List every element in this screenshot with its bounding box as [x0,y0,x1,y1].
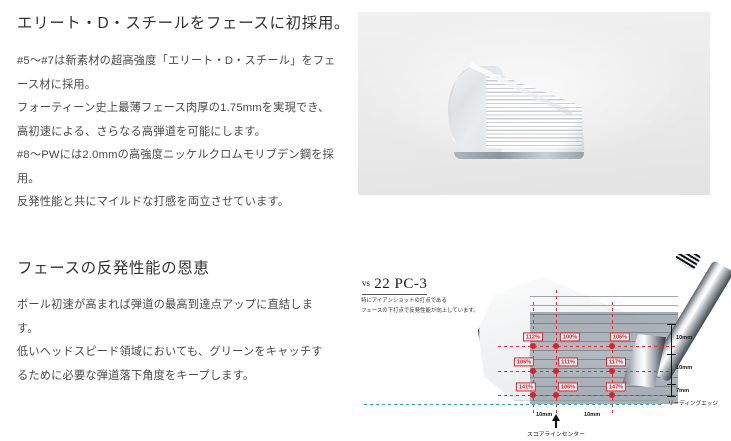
leading-edge-line [364,404,664,405]
measure-dot-r2c1 [530,368,536,374]
iron-face-photo [358,12,710,195]
measure-dot-r2c3 [609,368,615,374]
section-1-paragraph-1: #5〜#7は新素材の超高強度「エリート・D・スチール」をフェース材に採用。 [17,50,339,97]
club-head-graphic [450,60,587,158]
page-root: エリート・D・スチールをフェースに初採用。 #5〜#7は新素材の超高強度「エリー… [0,0,731,441]
pct-r2c2: 111% [558,357,578,366]
section-1-paragraph-4: 反発性能と共にマイルドな打感を両立させています。 [17,191,339,215]
vertical-dim-tick-4 [667,396,676,397]
vertical-dim-label-2: 10mm [676,365,692,371]
pct-r3c1: 141% [516,382,536,391]
horizontal-dim-label-1: 10mm [536,412,552,418]
diagram-caption-line-1: 特にアイアンショットの打点である [361,296,479,306]
pct-r3c3: 147% [606,382,626,391]
section-1-heading: エリート・D・スチールをフェースに初採用。 [17,0,352,34]
shaft-tube [648,260,731,382]
vertical-dim-tick-2 [667,354,676,355]
shaft-ferrule [674,254,701,271]
vertical-dim-tick-3 [667,384,676,385]
pct-r2c3: 117% [606,357,626,366]
pct-r1c2: 100% [560,332,580,341]
grid-hline-top [498,346,678,347]
section-2-body: ボール初速が高まれば弾道の最高到達点アップに直結します。 低いヘッドスピード領域… [17,279,333,388]
measure-dot-r1c1 [530,343,536,349]
measure-dot-r3c2 [553,392,559,398]
pct-r1c1: 112% [523,332,543,341]
measure-dot-r2c2 [553,368,559,374]
measure-dot-r1c2 [553,343,559,349]
vertical-dim-label-1: 10mm [676,335,692,341]
measure-dot-r3c1 [530,392,536,398]
grid-vline-center [556,290,557,426]
section-2-paragraph-2: 低いヘッドスピード領域においても、グリーンをキャッチするために必要な弾道落下角度… [17,341,333,388]
measure-dot-r3c3 [609,392,615,398]
pct-r3c2: 106% [558,382,578,391]
vs-model-label: vs 22 PC-3 [362,276,427,295]
pct-r1c3: 106% [610,332,630,341]
diagram-caption-line-2: フェースの下打点で反発性能が向上しています。 [361,306,479,316]
section-2-paragraph-1: ボール初速が高まれば弾道の最高到達点アップに直結します。 [17,294,333,341]
scoreline-center-label: スコアラインセンター [527,429,585,437]
restitution-diagram: vs 22 PC-3 特にアイアンショットの打点である フェースの下打点で反発性… [358,254,731,437]
hosel-neck [622,334,666,388]
grid-hline-mid [498,371,678,372]
vertical-dim-label-3: 7mm [676,388,689,394]
leading-edge-label: リーディングエッジ [668,399,718,407]
section-2-text-column: フェースの反発性能の恩恵 ボール初速が高まれば弾道の最高到達点アップに直結します… [0,248,352,388]
measure-dot-r1c3 [609,343,615,349]
section-1-paragraph-2: フォーティーン史上最薄フェース肉厚の1.75mmを実現でき、高初速による、さらな… [17,97,339,144]
vs-model-name: 22 PC-3 [374,276,427,292]
shaft-graphic [620,254,716,398]
club-head-sole [454,152,584,159]
vertical-dim-tick-1 [667,324,676,325]
grid-hline-bottom [498,395,678,396]
scoreline-center-arrow-stem [555,420,557,428]
section-1-body: #5〜#7は新素材の超高強度「エリート・D・スチール」をフェース材に採用。 フォ… [17,34,339,215]
horizontal-dim-label-2: 10mm [584,412,600,418]
section-1-text-column: エリート・D・スチールをフェースに初採用。 #5〜#7は新素材の超高強度「エリー… [0,0,352,215]
vs-prefix: vs [362,278,370,288]
section-2-heading: フェースの反発性能の恩恵 [17,248,352,279]
diagram-caption: 特にアイアンショットの打点である フェースの下打点で反発性能が向上しています。 [361,296,479,316]
section-1-paragraph-3: #8〜PWには2.0mmの高強度ニッケルクロムモリブデン鋼を採用。 [17,144,339,191]
pct-r2c1: 106% [514,357,534,366]
